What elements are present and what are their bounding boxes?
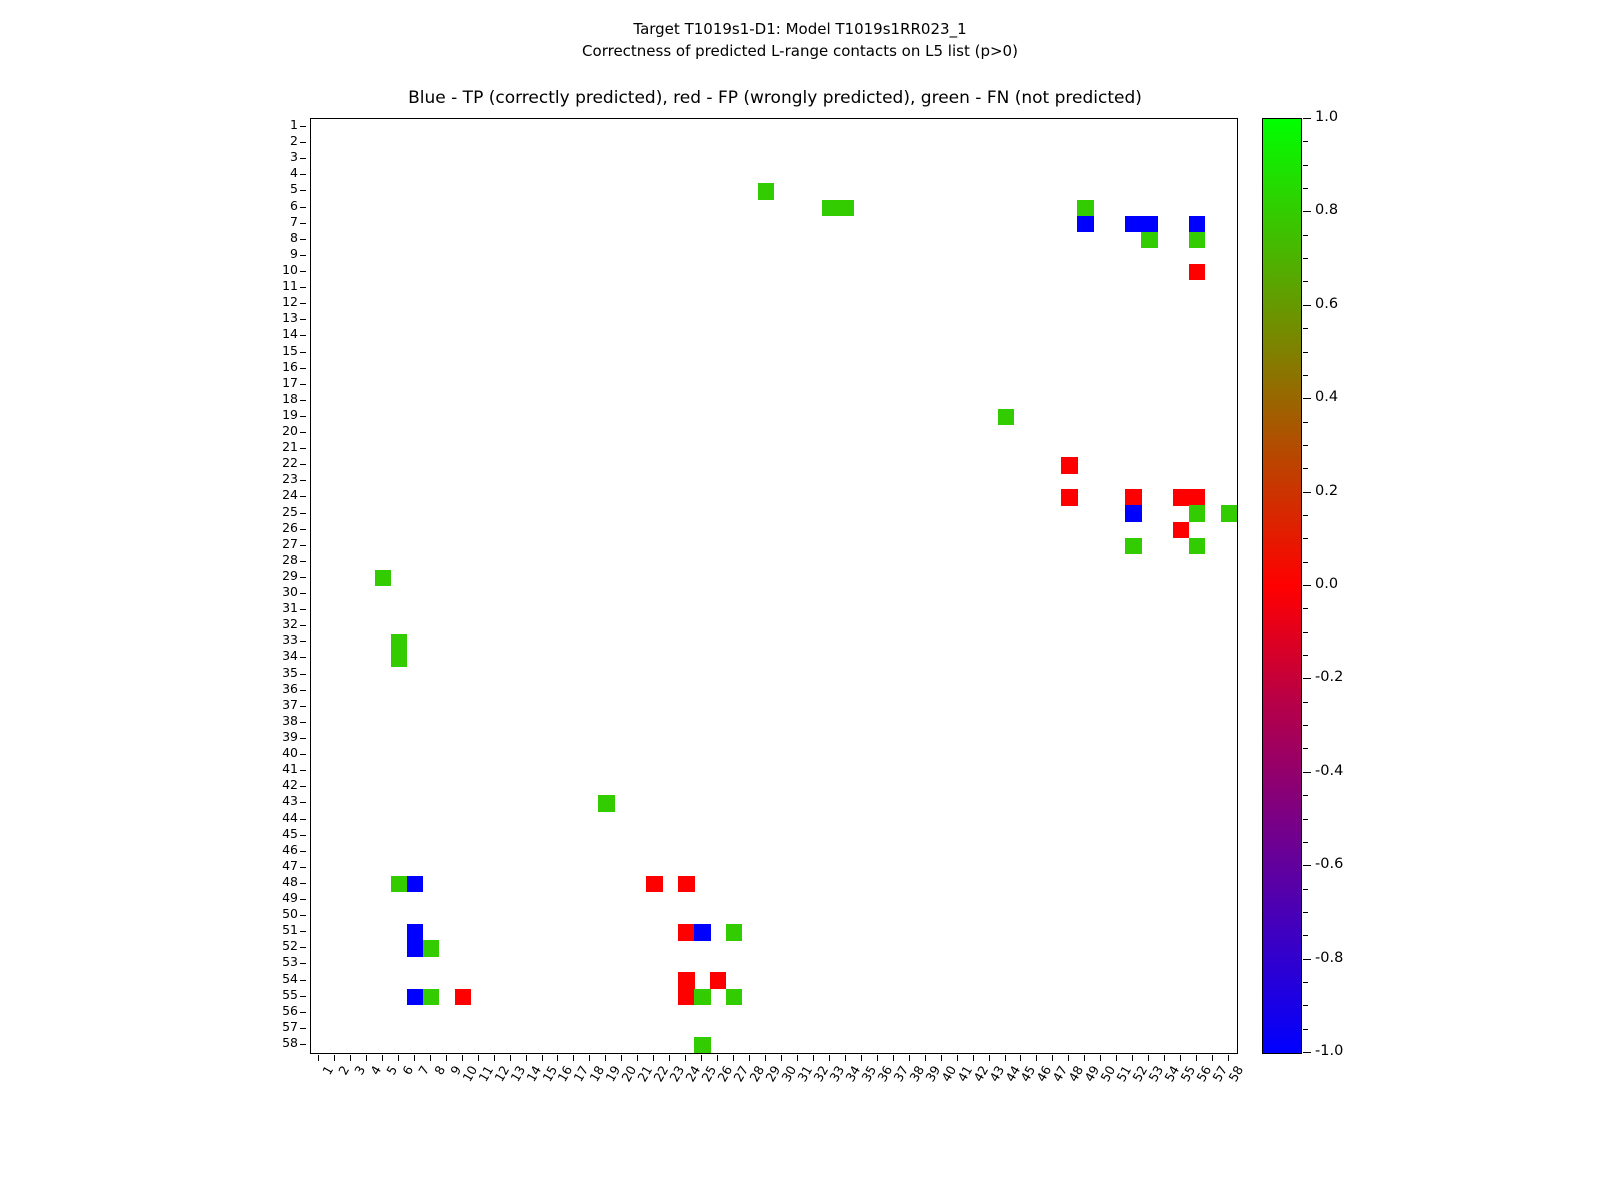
y-axis-tick-label: 36 (238, 683, 298, 696)
colorbar-minor-tick (1303, 912, 1308, 913)
contact-map-plot[interactable] (310, 118, 1238, 1054)
y-axis-tick-label: 49 (238, 892, 298, 905)
x-axis-tick-mark (637, 1055, 638, 1061)
y-axis-tick-mark (300, 722, 306, 723)
y-axis-tick-mark (300, 432, 306, 433)
colorbar-minor-tick (1303, 982, 1308, 983)
y-axis-tick-mark (300, 513, 306, 514)
y-axis-tick-mark (300, 561, 306, 562)
heatmap-cell (1141, 232, 1157, 249)
x-axis-tick-mark (621, 1055, 622, 1061)
y-axis-tick-label: 22 (238, 457, 298, 470)
y-axis-tick-label: 33 (238, 634, 298, 647)
y-axis-tick-mark (300, 690, 306, 691)
x-axis-tick-mark (717, 1055, 718, 1061)
heatmap-cell (391, 876, 407, 893)
x-axis-tick-mark (781, 1055, 782, 1061)
y-axis-tick-mark (300, 738, 306, 739)
colorbar-minor-tick (1303, 935, 1308, 936)
x-axis-tick-mark (382, 1055, 383, 1061)
colorbar-minor-tick (1303, 328, 1308, 329)
heatmap-cell (1173, 522, 1189, 539)
y-axis-tick-mark (300, 947, 306, 948)
colorbar-tick-label: -0.4 (1315, 764, 1343, 779)
colorbar-minor-tick (1303, 842, 1308, 843)
heatmap-cell (1061, 457, 1077, 474)
y-axis-tick-mark (300, 158, 306, 159)
y-axis-tick-label: 13 (238, 312, 298, 325)
y-axis-tick-label: 14 (238, 328, 298, 341)
x-axis-tick-mark (829, 1055, 830, 1061)
y-axis-tick-mark (300, 545, 306, 546)
x-axis-tick-mark (909, 1055, 910, 1061)
heatmap-cell (694, 989, 710, 1006)
colorbar-tick-mark (1303, 398, 1311, 399)
heatmap-cell (1189, 264, 1205, 281)
y-axis-tick-label: 52 (238, 940, 298, 953)
y-axis-tick-label: 6 (238, 200, 298, 213)
x-axis-tick-mark (765, 1055, 766, 1061)
heatmap-cell (391, 634, 407, 651)
colorbar-minor-tick (1303, 235, 1308, 236)
colorbar-tick-mark (1303, 959, 1311, 960)
y-axis-tick-mark (300, 368, 306, 369)
colorbar-tick-label: 1.0 (1315, 110, 1338, 125)
colorbar-minor-tick (1303, 819, 1308, 820)
heatmap-cell (1189, 538, 1205, 555)
colorbar-minor-tick (1303, 608, 1308, 609)
colorbar-minor-tick (1303, 468, 1308, 469)
y-axis-tick-mark (300, 271, 306, 272)
x-axis-tick-mark (1005, 1055, 1006, 1061)
heatmap-cell (1173, 489, 1189, 506)
heatmap-cell (646, 876, 662, 893)
colorbar-tick-mark (1303, 305, 1311, 306)
heatmap-cell (407, 876, 423, 893)
y-axis-tick-label: 4 (238, 167, 298, 180)
x-axis-tick-mark (573, 1055, 574, 1061)
y-axis-tick-label: 7 (238, 216, 298, 229)
x-axis-tick-mark (941, 1055, 942, 1061)
x-axis-tick-mark (1020, 1055, 1021, 1061)
y-axis-tick-label: 41 (238, 763, 298, 776)
y-axis-tick-mark (300, 802, 306, 803)
y-axis-tick-label: 47 (238, 860, 298, 873)
heatmap-cell (423, 940, 439, 957)
y-axis-tick-label: 25 (238, 506, 298, 519)
x-axis-tick-mark (925, 1055, 926, 1061)
y-axis-tick-mark (300, 625, 306, 626)
y-axis-tick-mark (300, 786, 306, 787)
x-axis-tick-mark (1212, 1055, 1213, 1061)
x-axis-tick-mark (1148, 1055, 1149, 1061)
y-axis-tick-label: 55 (238, 989, 298, 1002)
heatmap-cell (423, 989, 439, 1006)
colorbar-tick-label: -0.2 (1315, 670, 1343, 685)
colorbar-tick-label: -0.6 (1315, 857, 1343, 872)
y-axis-tick-mark (300, 190, 306, 191)
y-axis-tick-label: 16 (238, 361, 298, 374)
heatmap-cell (598, 795, 614, 812)
colorbar-minor-tick (1303, 375, 1308, 376)
y-axis-tick-mark (300, 819, 306, 820)
y-axis-tick-label: 54 (238, 973, 298, 986)
y-axis-tick-mark (300, 835, 306, 836)
colorbar-minor-tick (1303, 165, 1308, 166)
y-axis-tick-mark (300, 416, 306, 417)
colorbar-minor-tick (1303, 562, 1308, 563)
x-axis-tick-mark (1132, 1055, 1133, 1061)
heatmap-cell (1125, 538, 1141, 555)
y-axis-tick-label: 9 (238, 248, 298, 261)
y-axis-tick-label: 48 (238, 876, 298, 889)
y-axis-tick-mark (300, 1044, 306, 1045)
y-axis-tick-mark (300, 899, 306, 900)
colorbar-tick-label: -1.0 (1315, 1044, 1343, 1059)
colorbar-tick-label: 0.2 (1315, 484, 1338, 499)
y-axis-tick-label: 8 (238, 232, 298, 245)
y-axis-tick-mark (300, 126, 306, 127)
heatmap-cell (758, 183, 774, 200)
colorbar-minor-tick (1303, 795, 1308, 796)
colorbar-minor-tick (1303, 281, 1308, 282)
heatmap-cell (838, 200, 854, 217)
x-axis-tick-mark (557, 1055, 558, 1061)
x-axis-tick-mark (1180, 1055, 1181, 1061)
colorbar-minor-tick (1303, 1029, 1308, 1030)
heatmap-cell (375, 570, 391, 587)
y-axis-tick-label: 18 (238, 393, 298, 406)
heatmap-cell (1125, 489, 1141, 506)
colorbar-tick-mark (1303, 211, 1311, 212)
y-axis-tick-mark (300, 980, 306, 981)
y-axis-tick-label: 30 (238, 586, 298, 599)
x-axis-tick-mark (733, 1055, 734, 1061)
heatmap-cell (1077, 216, 1093, 233)
y-axis-tick-label: 27 (238, 538, 298, 551)
x-axis-tick-mark (1196, 1055, 1197, 1061)
colorbar-tick-mark (1303, 678, 1311, 679)
colorbar-tick-mark (1303, 865, 1311, 866)
heatmap-cell (1125, 505, 1141, 522)
y-axis-tick-mark (300, 287, 306, 288)
y-axis-tick-mark (300, 963, 306, 964)
y-axis-tick-label: 58 (238, 1037, 298, 1050)
y-axis-tick-mark (300, 303, 306, 304)
y-axis-tick-label: 57 (238, 1021, 298, 1034)
y-axis-tick-mark (300, 335, 306, 336)
y-axis-tick-mark (300, 754, 306, 755)
x-axis-tick-mark (1164, 1055, 1165, 1061)
y-axis-tick-label: 1 (238, 119, 298, 132)
figure-root: Target T1019s1-D1: Model T1019s1RR023_1 … (0, 0, 1600, 1200)
x-axis-tick-mark (526, 1055, 527, 1061)
x-axis-tick-mark (430, 1055, 431, 1061)
colorbar-minor-tick (1303, 655, 1308, 656)
heatmap-cell (1189, 216, 1205, 233)
y-axis-tick-label: 51 (238, 924, 298, 937)
y-axis-tick-label: 56 (238, 1005, 298, 1018)
y-axis-tick-label: 5 (238, 183, 298, 196)
x-axis-tick-mark (462, 1055, 463, 1061)
y-axis-tick-mark (300, 915, 306, 916)
y-axis-tick-label: 12 (238, 296, 298, 309)
colorbar-minor-tick (1303, 422, 1308, 423)
x-axis-tick-mark (957, 1055, 958, 1061)
heatmap-cell (1077, 200, 1093, 217)
y-axis-tick-mark (300, 931, 306, 932)
x-axis-tick-mark (669, 1055, 670, 1061)
x-axis-tick-mark (494, 1055, 495, 1061)
x-axis-tick-mark (797, 1055, 798, 1061)
heatmap-cell (1221, 505, 1237, 522)
heatmap-cell (694, 924, 710, 941)
y-axis-tick-label: 29 (238, 570, 298, 583)
figure-title-line1: Target T1019s1-D1: Model T1019s1RR023_1 (0, 20, 1600, 38)
x-axis-tick-mark (973, 1055, 974, 1061)
y-axis-tick-mark (300, 609, 306, 610)
colorbar-tick-mark (1303, 118, 1311, 119)
colorbar-minor-tick (1303, 515, 1308, 516)
y-axis-tick-mark (300, 384, 306, 385)
x-axis-tick-mark (749, 1055, 750, 1061)
y-axis-tick-mark (300, 319, 306, 320)
x-axis-tick-mark (877, 1055, 878, 1061)
y-axis-tick-label: 39 (238, 731, 298, 744)
x-axis-tick-mark (1084, 1055, 1085, 1061)
y-axis-tick-label: 37 (238, 699, 298, 712)
x-axis-tick-mark (1228, 1055, 1229, 1061)
y-axis-tick-label: 35 (238, 667, 298, 680)
y-axis-tick-mark (300, 674, 306, 675)
heatmap-cell (998, 409, 1014, 426)
x-axis-tick-mark (1036, 1055, 1037, 1061)
colorbar-minor-tick (1303, 748, 1308, 749)
y-axis-tick-mark (300, 174, 306, 175)
y-axis-tick-label: 20 (238, 425, 298, 438)
y-axis-tick-label: 31 (238, 602, 298, 615)
y-axis: 1234567891011121314151617181920212223242… (240, 118, 306, 1054)
y-axis-tick-label: 28 (238, 554, 298, 567)
y-axis-tick-mark (300, 770, 306, 771)
y-axis-tick-mark (300, 657, 306, 658)
y-axis-tick-label: 15 (238, 345, 298, 358)
y-axis-tick-mark (300, 223, 306, 224)
y-axis-tick-label: 40 (238, 747, 298, 760)
heatmap-cell (822, 200, 838, 217)
x-axis-tick-mark (589, 1055, 590, 1061)
colorbar-minor-tick (1303, 352, 1308, 353)
y-axis-tick-label: 50 (238, 908, 298, 921)
colorbar (1262, 118, 1302, 1054)
colorbar-tick-mark (1303, 585, 1311, 586)
y-axis-tick-mark (300, 883, 306, 884)
x-axis-tick-mark (653, 1055, 654, 1061)
colorbar-minor-tick (1303, 141, 1308, 142)
y-axis-tick-mark (300, 867, 306, 868)
heatmap-cell (678, 972, 694, 989)
y-axis-tick-mark (300, 577, 306, 578)
x-axis-tick-mark (542, 1055, 543, 1061)
colorbar-minor-tick (1303, 258, 1308, 259)
heatmap-cell (678, 989, 694, 1006)
y-axis-tick-mark (300, 1012, 306, 1013)
colorbar-minor-tick (1303, 702, 1308, 703)
heatmap-cells (311, 119, 1237, 1053)
y-axis-tick-label: 46 (238, 844, 298, 857)
y-axis-tick-mark (300, 706, 306, 707)
y-axis-tick-mark (300, 996, 306, 997)
heatmap-cell (1141, 216, 1157, 233)
colorbar-minor-tick (1303, 632, 1308, 633)
colorbar-minor-tick (1303, 725, 1308, 726)
x-axis-tick-mark (478, 1055, 479, 1061)
x-axis-tick-mark (1100, 1055, 1101, 1061)
y-axis-tick-label: 2 (238, 135, 298, 148)
y-axis-tick-label: 17 (238, 377, 298, 390)
x-axis-tick-mark (334, 1055, 335, 1061)
heatmap-cell (726, 924, 742, 941)
x-axis-tick-mark (318, 1055, 319, 1061)
colorbar-tick-mark (1303, 772, 1311, 773)
heatmap-cell (407, 924, 423, 941)
y-axis-tick-label: 53 (238, 956, 298, 969)
y-axis-tick-label: 44 (238, 812, 298, 825)
y-axis-tick-label: 19 (238, 409, 298, 422)
heatmap-cell (710, 972, 726, 989)
x-axis-tick-mark (605, 1055, 606, 1061)
x-axis-tick-mark (701, 1055, 702, 1061)
heatmap-cell (455, 989, 471, 1006)
y-axis-tick-mark (300, 400, 306, 401)
colorbar-minor-tick (1303, 1005, 1308, 1006)
colorbar-tick-mark (1303, 492, 1311, 493)
x-axis-tick-mark (366, 1055, 367, 1061)
x-axis-tick-mark (813, 1055, 814, 1061)
x-axis-tick-mark (1052, 1055, 1053, 1061)
heatmap-cell (391, 650, 407, 667)
x-axis: 1234567891011121314151617181920212223242… (310, 1055, 1238, 1175)
colorbar-tick-label: 0.6 (1315, 297, 1338, 312)
y-axis-tick-mark (300, 448, 306, 449)
x-axis-tick-mark (989, 1055, 990, 1061)
y-axis-tick-label: 10 (238, 264, 298, 277)
figure-title-line2: Correctness of predicted L-range contact… (0, 42, 1600, 60)
x-axis-tick-mark (861, 1055, 862, 1061)
heatmap-cell (726, 989, 742, 1006)
heatmap-cell (1061, 489, 1077, 506)
y-axis-tick-mark (300, 352, 306, 353)
y-axis-tick-label: 24 (238, 489, 298, 502)
colorbar-minor-tick (1303, 889, 1308, 890)
y-axis-tick-mark (300, 207, 306, 208)
colorbar-minor-tick (1303, 538, 1308, 539)
heatmap-cell (1125, 216, 1141, 233)
y-axis-tick-mark (300, 496, 306, 497)
y-axis-tick-label: 45 (238, 828, 298, 841)
heatmap-cell (1189, 505, 1205, 522)
y-axis-tick-mark (300, 464, 306, 465)
colorbar-tick-label: -0.8 (1315, 951, 1343, 966)
figure-subtitle-legend: Blue - TP (correctly predicted), red - F… (310, 88, 1240, 108)
x-axis-tick-mark (1068, 1055, 1069, 1061)
colorbar-tick-label: 0.8 (1315, 203, 1338, 218)
y-axis-tick-label: 34 (238, 650, 298, 663)
y-axis-tick-mark (300, 593, 306, 594)
x-axis-tick-mark (685, 1055, 686, 1061)
y-axis-tick-label: 42 (238, 779, 298, 792)
x-axis-tick-mark (350, 1055, 351, 1061)
y-axis-tick-label: 23 (238, 473, 298, 486)
y-axis-tick-mark (300, 255, 306, 256)
x-axis-tick-mark (893, 1055, 894, 1061)
y-axis-tick-mark (300, 641, 306, 642)
colorbar-tick-mark (1303, 1052, 1311, 1053)
heatmap-cell (407, 940, 423, 957)
heatmap-cell (1189, 489, 1205, 506)
heatmap-cell (1189, 232, 1205, 249)
colorbar-tick-label: 0.4 (1315, 390, 1338, 405)
x-axis-tick-mark (446, 1055, 447, 1061)
y-axis-tick-label: 32 (238, 618, 298, 631)
y-axis-tick-mark (300, 1028, 306, 1029)
y-axis-tick-label: 26 (238, 522, 298, 535)
x-axis-tick-mark (398, 1055, 399, 1061)
y-axis-tick-mark (300, 142, 306, 143)
y-axis-tick-mark (300, 851, 306, 852)
heatmap-cell (694, 1037, 710, 1054)
y-axis-tick-mark (300, 529, 306, 530)
y-axis-tick-label: 38 (238, 715, 298, 728)
heatmap-cell (407, 989, 423, 1006)
heatmap-cell (678, 924, 694, 941)
colorbar-minor-tick (1303, 445, 1308, 446)
heatmap-cell (678, 876, 694, 893)
y-axis-tick-mark (300, 480, 306, 481)
x-axis-tick-mark (1116, 1055, 1117, 1061)
x-axis-tick-mark (845, 1055, 846, 1061)
y-axis-tick-label: 43 (238, 795, 298, 808)
x-axis-tick-mark (414, 1055, 415, 1061)
colorbar-tick-label: 0.0 (1315, 577, 1338, 592)
y-axis-tick-label: 3 (238, 151, 298, 164)
y-axis-tick-mark (300, 239, 306, 240)
y-axis-tick-label: 21 (238, 441, 298, 454)
x-axis-tick-mark (510, 1055, 511, 1061)
colorbar-minor-tick (1303, 188, 1308, 189)
y-axis-tick-label: 11 (238, 280, 298, 293)
